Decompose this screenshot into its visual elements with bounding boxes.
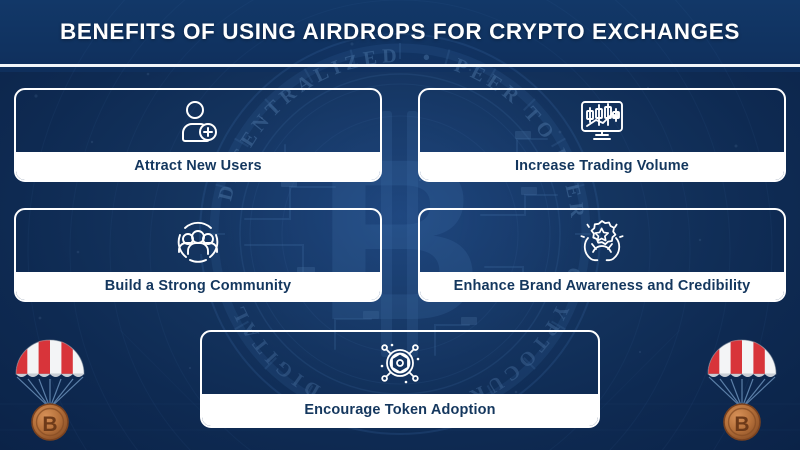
token-network-icon <box>376 339 424 387</box>
benefit-card-label-zone: Increase Trading Volume <box>420 152 784 180</box>
benefit-card-icon-zone <box>420 90 784 152</box>
svg-text:B: B <box>42 413 57 436</box>
header-bar: BENEFITS OF USING AIRDROPS FOR CRYPTO EX… <box>0 0 800 64</box>
benefit-card-icon-zone <box>16 90 380 152</box>
page-title: BENEFITS OF USING AIRDROPS FOR CRYPTO EX… <box>60 19 740 45</box>
benefit-card-enhance-brand-awareness[interactable]: Enhance Brand Awareness and Credibility <box>418 208 786 302</box>
benefit-card-icon-zone <box>202 332 598 394</box>
trading-monitor-icon <box>578 99 626 143</box>
benefit-card-build-strong-community[interactable]: Build a Strong Community <box>14 208 382 302</box>
benefit-card-label: Encourage Token Adoption <box>304 402 495 418</box>
svg-text:B: B <box>734 413 749 436</box>
benefit-card-attract-new-users[interactable]: Attract New Users <box>14 88 382 182</box>
benefit-card-label: Increase Trading Volume <box>515 158 689 174</box>
header-divider <box>0 64 800 67</box>
benefit-card-increase-trading-volume[interactable]: Increase Trading Volume <box>418 88 786 182</box>
airdrop-parachute-right: B <box>700 330 792 442</box>
benefit-card-encourage-token-adoption[interactable]: Encourage Token Adoption <box>200 330 600 428</box>
benefit-card-icon-zone <box>16 210 380 272</box>
benefit-card-label: Enhance Brand Awareness and Credibility <box>454 278 751 294</box>
airdrop-parachute-left: B <box>8 330 100 442</box>
user-plus-icon <box>177 99 219 143</box>
community-group-icon <box>174 218 222 264</box>
benefit-card-label-zone: Enhance Brand Awareness and Credibility <box>420 272 784 300</box>
benefit-card-icon-zone <box>420 210 784 272</box>
benefit-card-label: Build a Strong Community <box>105 278 291 294</box>
benefit-card-label-zone: Build a Strong Community <box>16 272 380 300</box>
hands-award-icon <box>578 218 626 264</box>
benefit-card-label-zone: Encourage Token Adoption <box>202 394 598 426</box>
benefit-card-label: Attract New Users <box>134 158 261 174</box>
benefit-card-label-zone: Attract New Users <box>16 152 380 180</box>
